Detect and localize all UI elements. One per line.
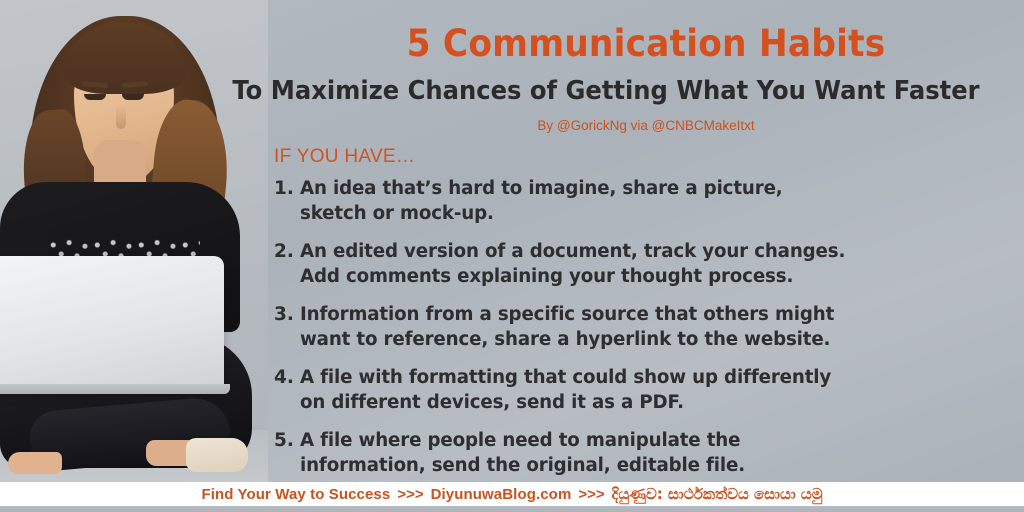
footer-tagline: Find Your Way to Success [201, 486, 390, 503]
list-item-line-2: Add comments explaining your thought pro… [300, 264, 991, 289]
footer-site-link[interactable]: DiyunuwaBlog.com [431, 486, 572, 503]
list-item-number: 1. [274, 176, 300, 226]
list-item: 5. A file where people need to manipulat… [274, 428, 1002, 478]
photo-laptop-edge [0, 384, 230, 394]
list-item-number: 4. [274, 365, 300, 415]
list-item-line-1: An edited version of a document, track y… [300, 241, 845, 262]
byline-attribution: By @GorickNg via @CNBCMakeItxt [268, 118, 1024, 133]
infographic-poster: 5 Communication Habits To Maximize Chanc… [0, 0, 1024, 512]
photo-eye-right [122, 94, 144, 100]
habits-list: 1. An idea that’s hard to imagine, share… [274, 176, 1002, 491]
footer-separator-1: >>> [390, 486, 430, 503]
list-item-line-1: Information from a specific source that … [300, 304, 834, 325]
photo-woman-with-laptop [0, 0, 268, 486]
photo-foot-left [8, 452, 62, 474]
list-item-number: 3. [274, 302, 300, 352]
footer-separator-2: >>> [571, 486, 611, 503]
photo-shoe [186, 438, 248, 472]
list-item-line-1: A file with formatting that could show u… [300, 367, 831, 388]
list-item: 2. An edited version of a document, trac… [274, 239, 1002, 289]
list-item-text: A file where people need to manipulate t… [300, 428, 991, 478]
list-item-line-1: A file where people need to manipulate t… [300, 430, 740, 451]
list-item-text: A file with formatting that could show u… [300, 365, 991, 415]
list-item-text: An edited version of a document, track y… [300, 239, 991, 289]
list-item: 3. Information from a specific source th… [274, 302, 1002, 352]
list-item-text: Information from a specific source that … [300, 302, 991, 352]
list-item-number: 5. [274, 428, 300, 478]
list-item-line-1: An idea that’s hard to imagine, share a … [300, 178, 783, 199]
photo-nose [116, 105, 126, 129]
page-subtitle: To Maximize Chances of Getting What You … [217, 76, 996, 106]
lead-in-text: IF YOU HAVE… [274, 146, 415, 168]
list-item-line-2: information, send the original, editable… [300, 453, 991, 478]
content-panel: 5 Communication Habits To Maximize Chanc… [268, 0, 1024, 512]
photo-eye-left [84, 94, 106, 100]
list-item-line-2: want to reference, share a hyperlink to … [300, 327, 991, 352]
list-item-text: An idea that’s hard to imagine, share a … [300, 176, 991, 226]
footer-bar: Find Your Way to Success >>> DiyunuwaBlo… [0, 482, 1024, 506]
list-item-number: 2. [274, 239, 300, 289]
bottom-strip [0, 506, 1024, 512]
page-title: 5 Communication Habits [294, 22, 997, 65]
list-item-line-2: sketch or mock-up. [300, 201, 991, 226]
footer-sinhala-tagline: දියුණුව: සාර්ථකත්වය සොයා යමු [612, 485, 823, 503]
photo-laptop [0, 256, 224, 392]
list-item-line-2: on different devices, send it as a PDF. [300, 390, 991, 415]
list-item: 4. A file with formatting that could sho… [274, 365, 1002, 415]
list-item: 1. An idea that’s hard to imagine, share… [274, 176, 1002, 226]
